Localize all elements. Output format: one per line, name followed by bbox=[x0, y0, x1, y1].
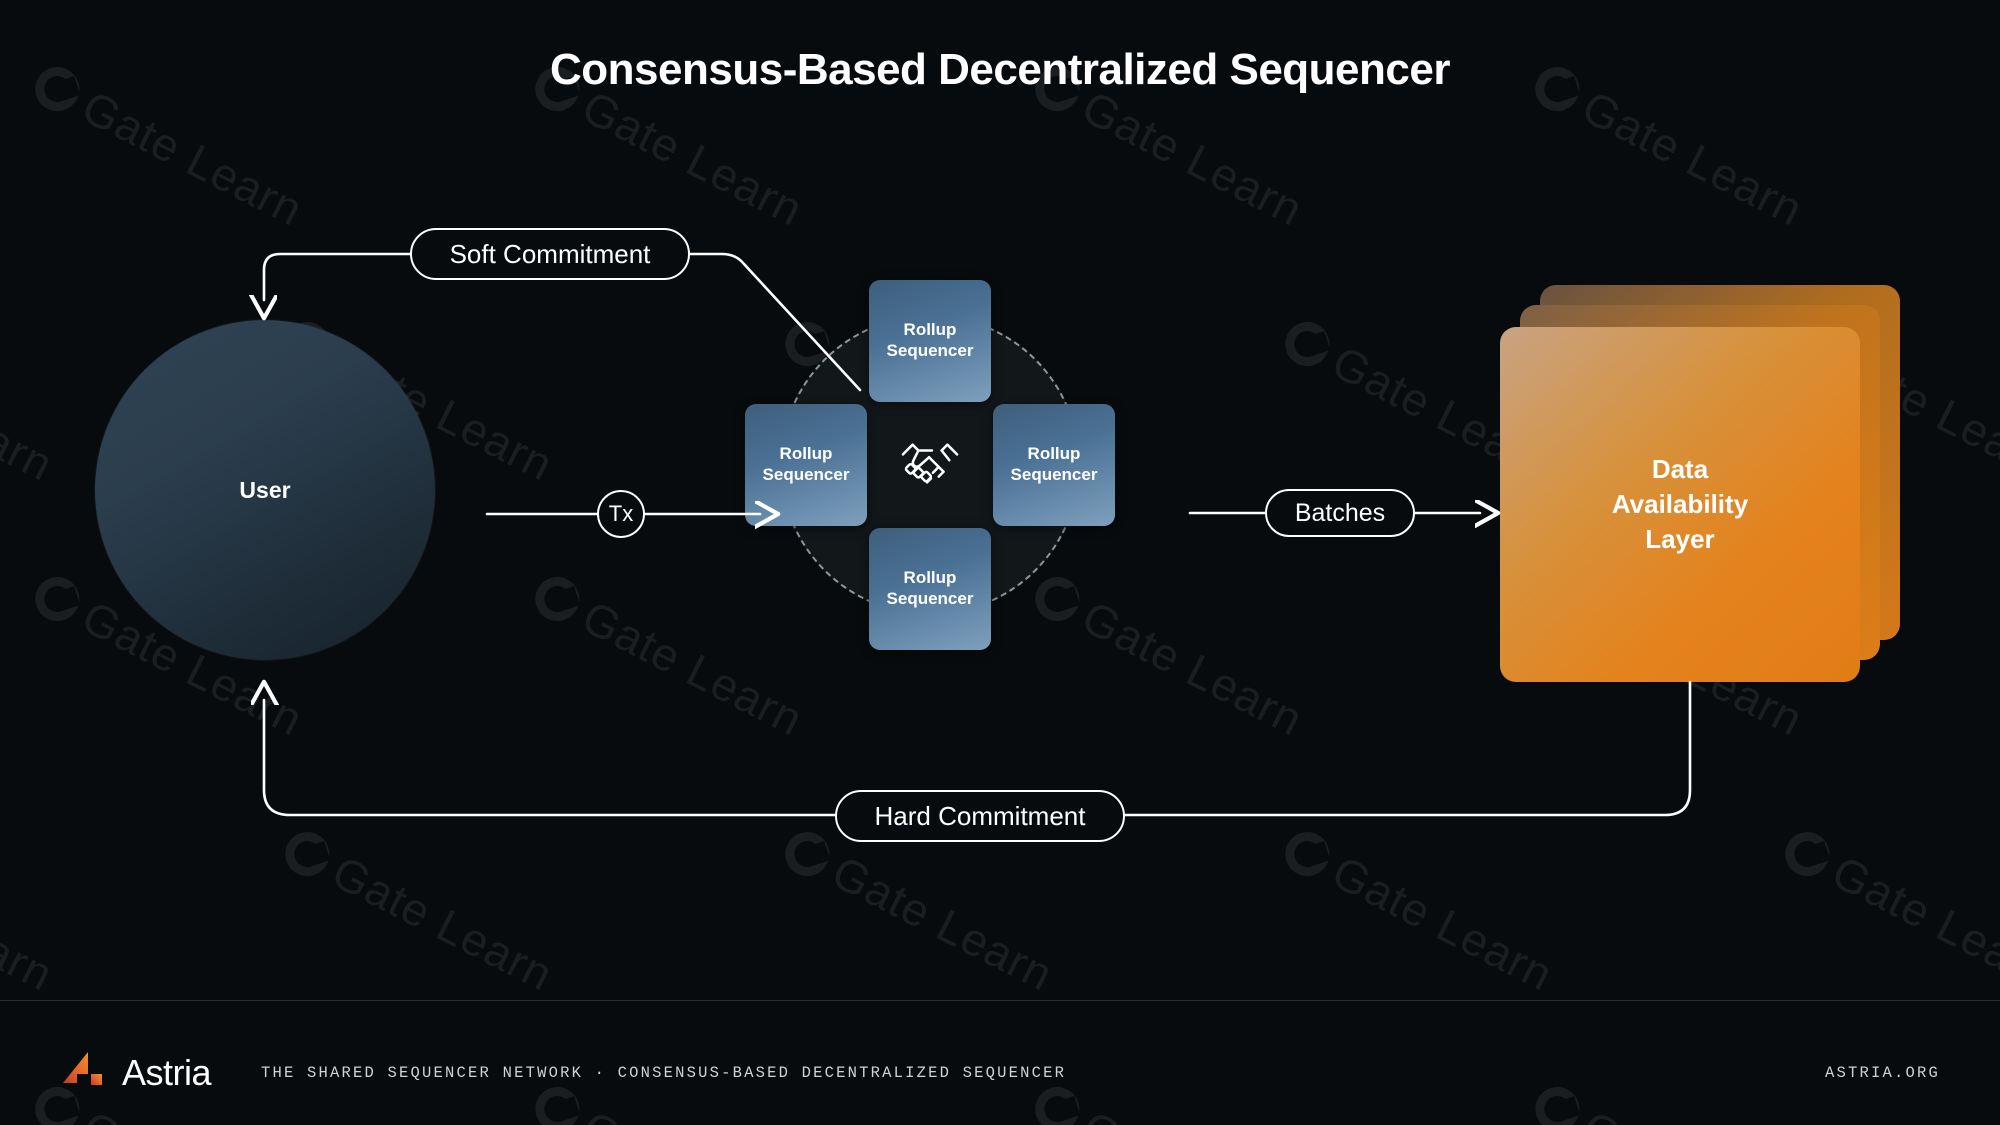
watermark-label: Gate Learn bbox=[1574, 80, 1813, 237]
watermark: Gate Learn bbox=[525, 565, 812, 747]
watermark: Gate Learn bbox=[0, 820, 62, 1002]
hard-commitment-label: Hard Commitment bbox=[875, 801, 1086, 832]
rollup-label-line1: Rollup bbox=[904, 568, 957, 589]
watermark: Gate Learn bbox=[1775, 820, 2000, 1002]
tx-badge[interactable]: Tx bbox=[597, 490, 645, 538]
soft-commitment-label: Soft Commitment bbox=[450, 239, 651, 270]
handshake-icon bbox=[895, 432, 965, 498]
watermark-label: Gate Learn bbox=[74, 80, 313, 237]
watermark-label: Gate Learn bbox=[1074, 80, 1313, 237]
soft-commitment-pill[interactable]: Soft Commitment bbox=[410, 228, 690, 280]
brand-name: Astria bbox=[122, 1052, 211, 1094]
rollup-sequencer-node[interactable]: Rollup Sequencer bbox=[745, 404, 867, 526]
rollup-sequencer-node[interactable]: Rollup Sequencer bbox=[993, 404, 1115, 526]
watermark-label: Gate Learn bbox=[574, 80, 813, 237]
da-label: Data Availability Layer bbox=[1612, 452, 1748, 557]
tx-label: Tx bbox=[609, 501, 633, 527]
rollup-label-line1: Rollup bbox=[780, 444, 833, 465]
hard-commitment-to-user-path bbox=[264, 700, 835, 815]
rollup-sequencer-node[interactable]: Rollup Sequencer bbox=[869, 280, 991, 402]
watermark-label: Gate Learn bbox=[1324, 845, 1563, 1002]
da-to-hard-commitment-path bbox=[1125, 682, 1690, 815]
brand[interactable]: Astria bbox=[60, 1052, 211, 1094]
da-card-front[interactable]: Data Availability Layer bbox=[1500, 327, 1860, 682]
batches-label: Batches bbox=[1295, 499, 1385, 528]
astria-logo bbox=[60, 1052, 104, 1094]
watermark-label: Gate Learn bbox=[1074, 590, 1313, 747]
gate-logo-icon bbox=[1278, 314, 1337, 373]
rollup-label-line2: Sequencer bbox=[887, 589, 974, 610]
footer-divider bbox=[0, 1000, 2000, 1001]
watermark-label: Gate Learn bbox=[574, 590, 813, 747]
footer-url: ASTRIA.ORG bbox=[1825, 1064, 1940, 1082]
watermark: Gate Learn bbox=[775, 820, 1062, 1002]
rollup-label-line2: Sequencer bbox=[887, 341, 974, 362]
soft-commitment-to-user-path bbox=[264, 254, 410, 300]
da-label-line1: Data bbox=[1612, 452, 1748, 487]
rollup-label-line1: Rollup bbox=[1028, 444, 1081, 465]
batches-pill[interactable]: Batches bbox=[1265, 489, 1415, 537]
watermark-label: Gate Learn bbox=[824, 845, 1063, 1002]
footer-tagline: THE SHARED SEQUENCER NETWORK · CONSENSUS… bbox=[261, 1064, 1066, 1082]
user-label: User bbox=[239, 477, 290, 504]
page-title: Consensus-Based Decentralized Sequencer bbox=[0, 45, 2000, 95]
footer: Astria THE SHARED SEQUENCER NETWORK · CO… bbox=[0, 1020, 2000, 1125]
gate-logo-icon bbox=[1278, 824, 1337, 883]
watermark-label: Gate Learn bbox=[324, 845, 563, 1002]
hard-commitment-pill[interactable]: Hard Commitment bbox=[835, 790, 1125, 842]
watermark: Gate Learn bbox=[275, 820, 562, 1002]
rollup-label-line1: Rollup bbox=[904, 320, 957, 341]
watermark-label: Gate Learn bbox=[0, 845, 62, 1002]
watermark: Gate Learn bbox=[1275, 820, 1562, 1002]
gate-logo-icon bbox=[528, 569, 587, 628]
gate-logo-icon bbox=[778, 824, 837, 883]
gate-logo-icon bbox=[28, 569, 87, 628]
rollup-sequencer-node[interactable]: Rollup Sequencer bbox=[869, 528, 991, 650]
watermark-label: Gate Learn bbox=[0, 335, 62, 492]
diagram-canvas: Gate LearnGate LearnGate LearnGate Learn… bbox=[0, 0, 2000, 1125]
sequencer-cluster: Rollup Sequencer Rollup Sequencer Rollup… bbox=[785, 320, 1075, 610]
watermark-label: Gate Learn bbox=[1824, 845, 2000, 1002]
rollup-label-line2: Sequencer bbox=[763, 465, 850, 486]
gate-logo-icon bbox=[278, 824, 337, 883]
data-availability-layer[interactable]: Data Availability Layer bbox=[1500, 285, 1900, 685]
user-node[interactable]: User bbox=[95, 320, 435, 660]
da-label-line3: Layer bbox=[1612, 522, 1748, 557]
rollup-label-line2: Sequencer bbox=[1011, 465, 1098, 486]
da-label-line2: Availability bbox=[1612, 487, 1748, 522]
watermark: Gate Learn bbox=[0, 310, 62, 492]
gate-logo-icon bbox=[1778, 824, 1837, 883]
